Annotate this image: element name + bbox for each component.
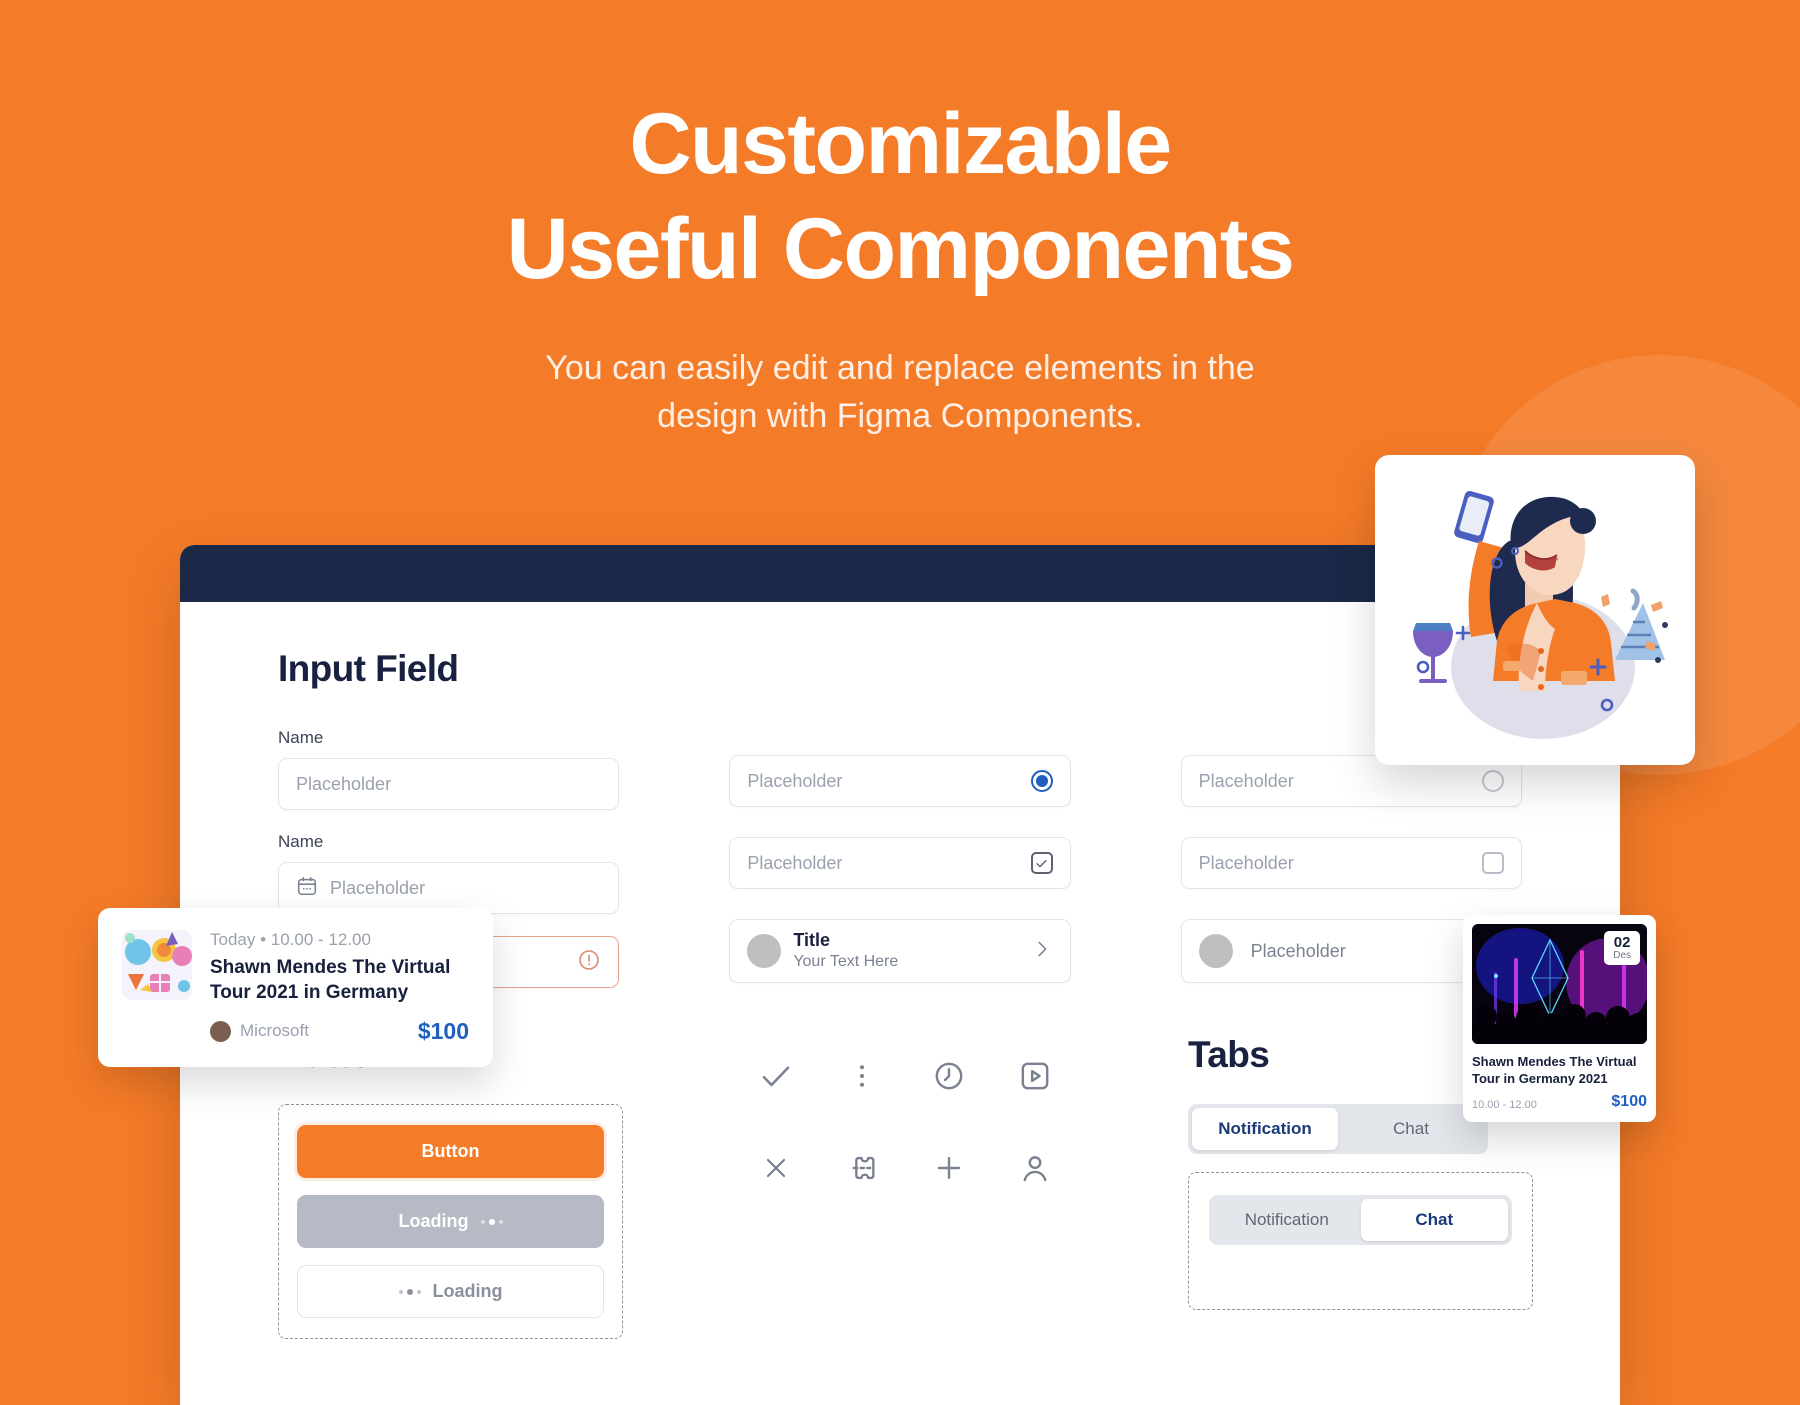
ticket-icon[interactable] xyxy=(819,1144,905,1192)
radio-input-checked[interactable]: Placeholder xyxy=(729,755,1070,807)
primary-button[interactable]: Button xyxy=(297,1125,604,1178)
checkbox-input-empty[interactable]: Placeholder xyxy=(1181,837,1522,889)
event-card[interactable]: Today • 10.00 - 12.00 Shawn Mendes The V… xyxy=(98,908,493,1067)
check-icon[interactable] xyxy=(733,1052,819,1100)
tab-chat[interactable]: Chat xyxy=(1361,1199,1509,1241)
name-input-1-placeholder: Placeholder xyxy=(296,774,391,795)
checkbox-input-placeholder: Placeholder xyxy=(747,853,1018,874)
calendar-icon xyxy=(296,875,318,902)
page-subtitle-line-1: You can easily edit and replace elements… xyxy=(0,344,1800,392)
concert-footer: 10.00 - 12.00 $100 xyxy=(1472,1093,1647,1111)
checkbox-checked-icon[interactable] xyxy=(1031,852,1053,874)
tab-group-two-wrapper: Notification Chat xyxy=(1188,1172,1533,1310)
list-item-subtitle: Your Text Here xyxy=(793,952,1018,973)
dots-vertical-icon[interactable] xyxy=(819,1052,905,1100)
loading-dots-icon xyxy=(399,1289,421,1295)
input-field-section-title: Input Field xyxy=(278,648,1522,690)
concert-title: Shawn Mendes The Virtual Tour in Germany… xyxy=(1472,1053,1647,1088)
loading-button[interactable]: Loading xyxy=(297,1195,604,1248)
tab-notification[interactable]: Notification xyxy=(1213,1199,1361,1241)
tab-notification[interactable]: Notification xyxy=(1192,1108,1338,1150)
date-input-placeholder: Placeholder xyxy=(330,878,425,899)
radio-unchecked-icon[interactable] xyxy=(1482,770,1504,792)
loading-dots-icon xyxy=(481,1219,503,1225)
event-organizer: Microsoft xyxy=(240,1021,409,1041)
radio-unchecked-placeholder: Placeholder xyxy=(1199,771,1470,792)
event-footer: Microsoft $100 xyxy=(210,1018,469,1045)
icon-grid xyxy=(733,1052,1078,1192)
concert-price: $100 xyxy=(1611,1093,1647,1111)
celebrating-woman-with-phone-illustration xyxy=(1375,455,1695,765)
checkbox-empty-icon[interactable] xyxy=(1482,852,1504,874)
name-input-1[interactable]: Placeholder xyxy=(278,758,619,810)
page-subtitle: You can easily edit and replace elements… xyxy=(0,344,1800,441)
input-column-middle: Placeholder Placeholder Title Yo xyxy=(729,728,1070,988)
primary-button-label: Button xyxy=(422,1141,480,1162)
button-section: Button Button Loading Loading xyxy=(278,1034,623,1339)
illustration-card xyxy=(1375,455,1695,765)
date-badge: 02 Des xyxy=(1604,931,1640,965)
user-icon[interactable] xyxy=(992,1144,1078,1192)
radio-input-placeholder: Placeholder xyxy=(747,771,1018,792)
chevron-right-icon[interactable] xyxy=(1031,938,1053,965)
icon-section xyxy=(733,1034,1078,1339)
event-title: Shawn Mendes The Virtual Tour 2021 in Ge… xyxy=(210,955,469,1006)
avatar xyxy=(747,934,781,968)
alert-circle-icon xyxy=(577,948,601,977)
radio-checked-icon[interactable] xyxy=(1031,770,1053,792)
party-balloons-image xyxy=(122,930,192,1000)
name-label-2: Name xyxy=(278,832,619,852)
lower-row: Button Button Loading Loading xyxy=(278,1034,1522,1339)
checkbox-empty-placeholder: Placeholder xyxy=(1199,853,1470,874)
loading-button-label: Loading xyxy=(399,1211,469,1232)
tab-chat[interactable]: Chat xyxy=(1338,1108,1484,1150)
hero-section: Customizable Useful Components You can e… xyxy=(0,0,1800,440)
page-title-line-1: Customizable xyxy=(0,92,1800,197)
tab-group-one: Notification Chat xyxy=(1188,1104,1488,1154)
event-price: $100 xyxy=(418,1018,469,1045)
ghost-loading-button[interactable]: Loading xyxy=(297,1265,604,1318)
checkbox-input-checked[interactable]: Placeholder xyxy=(729,837,1070,889)
list-item-with-chevron[interactable]: Title Your Text Here xyxy=(729,919,1070,983)
date-badge-month: Des xyxy=(1613,951,1631,962)
close-icon[interactable] xyxy=(733,1144,819,1192)
page-title-line-2: Useful Components xyxy=(0,197,1800,302)
date-input[interactable]: Placeholder xyxy=(278,862,619,914)
plus-icon[interactable] xyxy=(906,1144,992,1192)
play-box-icon[interactable] xyxy=(992,1052,1078,1100)
ghost-button-label: Loading xyxy=(433,1281,503,1302)
concert-card[interactable]: 02 Des Shawn Mendes The Virtual Tour in … xyxy=(1463,915,1656,1122)
tab-group-two: Notification Chat xyxy=(1209,1195,1512,1245)
avatar xyxy=(1199,934,1233,968)
concert-crowd-neon-image: 02 Des xyxy=(1472,924,1647,1044)
name-label-1: Name xyxy=(278,728,619,748)
clock-icon[interactable] xyxy=(906,1052,992,1100)
page-title: Customizable Useful Components xyxy=(0,0,1800,302)
date-badge-day: 02 xyxy=(1613,935,1631,951)
button-group: Button Loading Loading xyxy=(278,1104,623,1339)
page-subtitle-line-2: design with Figma Components. xyxy=(0,392,1800,440)
event-time: Today • 10.00 - 12.00 xyxy=(210,930,469,950)
organizer-avatar xyxy=(210,1021,231,1042)
concert-time: 10.00 - 12.00 xyxy=(1472,1099,1537,1111)
list-item-title: Title xyxy=(793,929,1018,952)
